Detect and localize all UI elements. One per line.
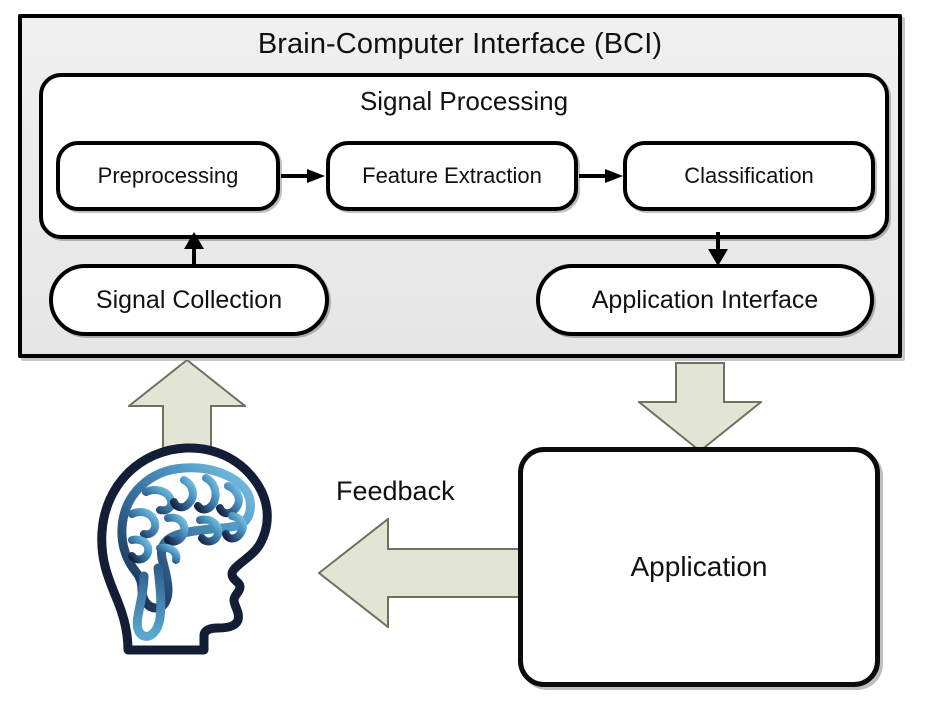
box-application-interface-label: Application Interface bbox=[592, 286, 819, 315]
stage-feature-extraction-label: Feature Extraction bbox=[362, 163, 542, 189]
stage-preprocessing: Preprocessing bbox=[56, 141, 280, 211]
box-application-interface: Application Interface bbox=[536, 264, 874, 336]
page-title: Brain-Computer Interface (BCI) bbox=[22, 28, 898, 61]
block-arrow-left-icon bbox=[318, 518, 530, 628]
signal-processing-panel: Signal Processing Preprocessing Feature … bbox=[39, 73, 889, 239]
bci-container: Brain-Computer Interface (BCI) Signal Pr… bbox=[18, 14, 902, 358]
arrow-down-icon bbox=[706, 232, 730, 266]
stage-classification-label: Classification bbox=[684, 163, 814, 189]
box-application: Application bbox=[518, 447, 880, 687]
arrow-right-icon bbox=[579, 169, 623, 183]
stage-classification: Classification bbox=[623, 141, 875, 211]
block-arrow-down-icon bbox=[638, 362, 762, 452]
head-brain-icon bbox=[88, 440, 300, 668]
feedback-label: Feedback bbox=[336, 476, 455, 507]
arrow-right-icon bbox=[281, 169, 325, 183]
stage-preprocessing-label: Preprocessing bbox=[98, 163, 239, 189]
box-application-label: Application bbox=[631, 551, 768, 583]
box-signal-collection-label: Signal Collection bbox=[96, 286, 282, 315]
block-arrow-up-icon bbox=[128, 360, 246, 452]
box-signal-collection: Signal Collection bbox=[49, 264, 329, 336]
arrow-up-icon bbox=[182, 232, 206, 266]
stage-feature-extraction: Feature Extraction bbox=[326, 141, 578, 211]
diagram-canvas: Brain-Computer Interface (BCI) Signal Pr… bbox=[0, 0, 927, 703]
signal-processing-title: Signal Processing bbox=[43, 86, 885, 117]
